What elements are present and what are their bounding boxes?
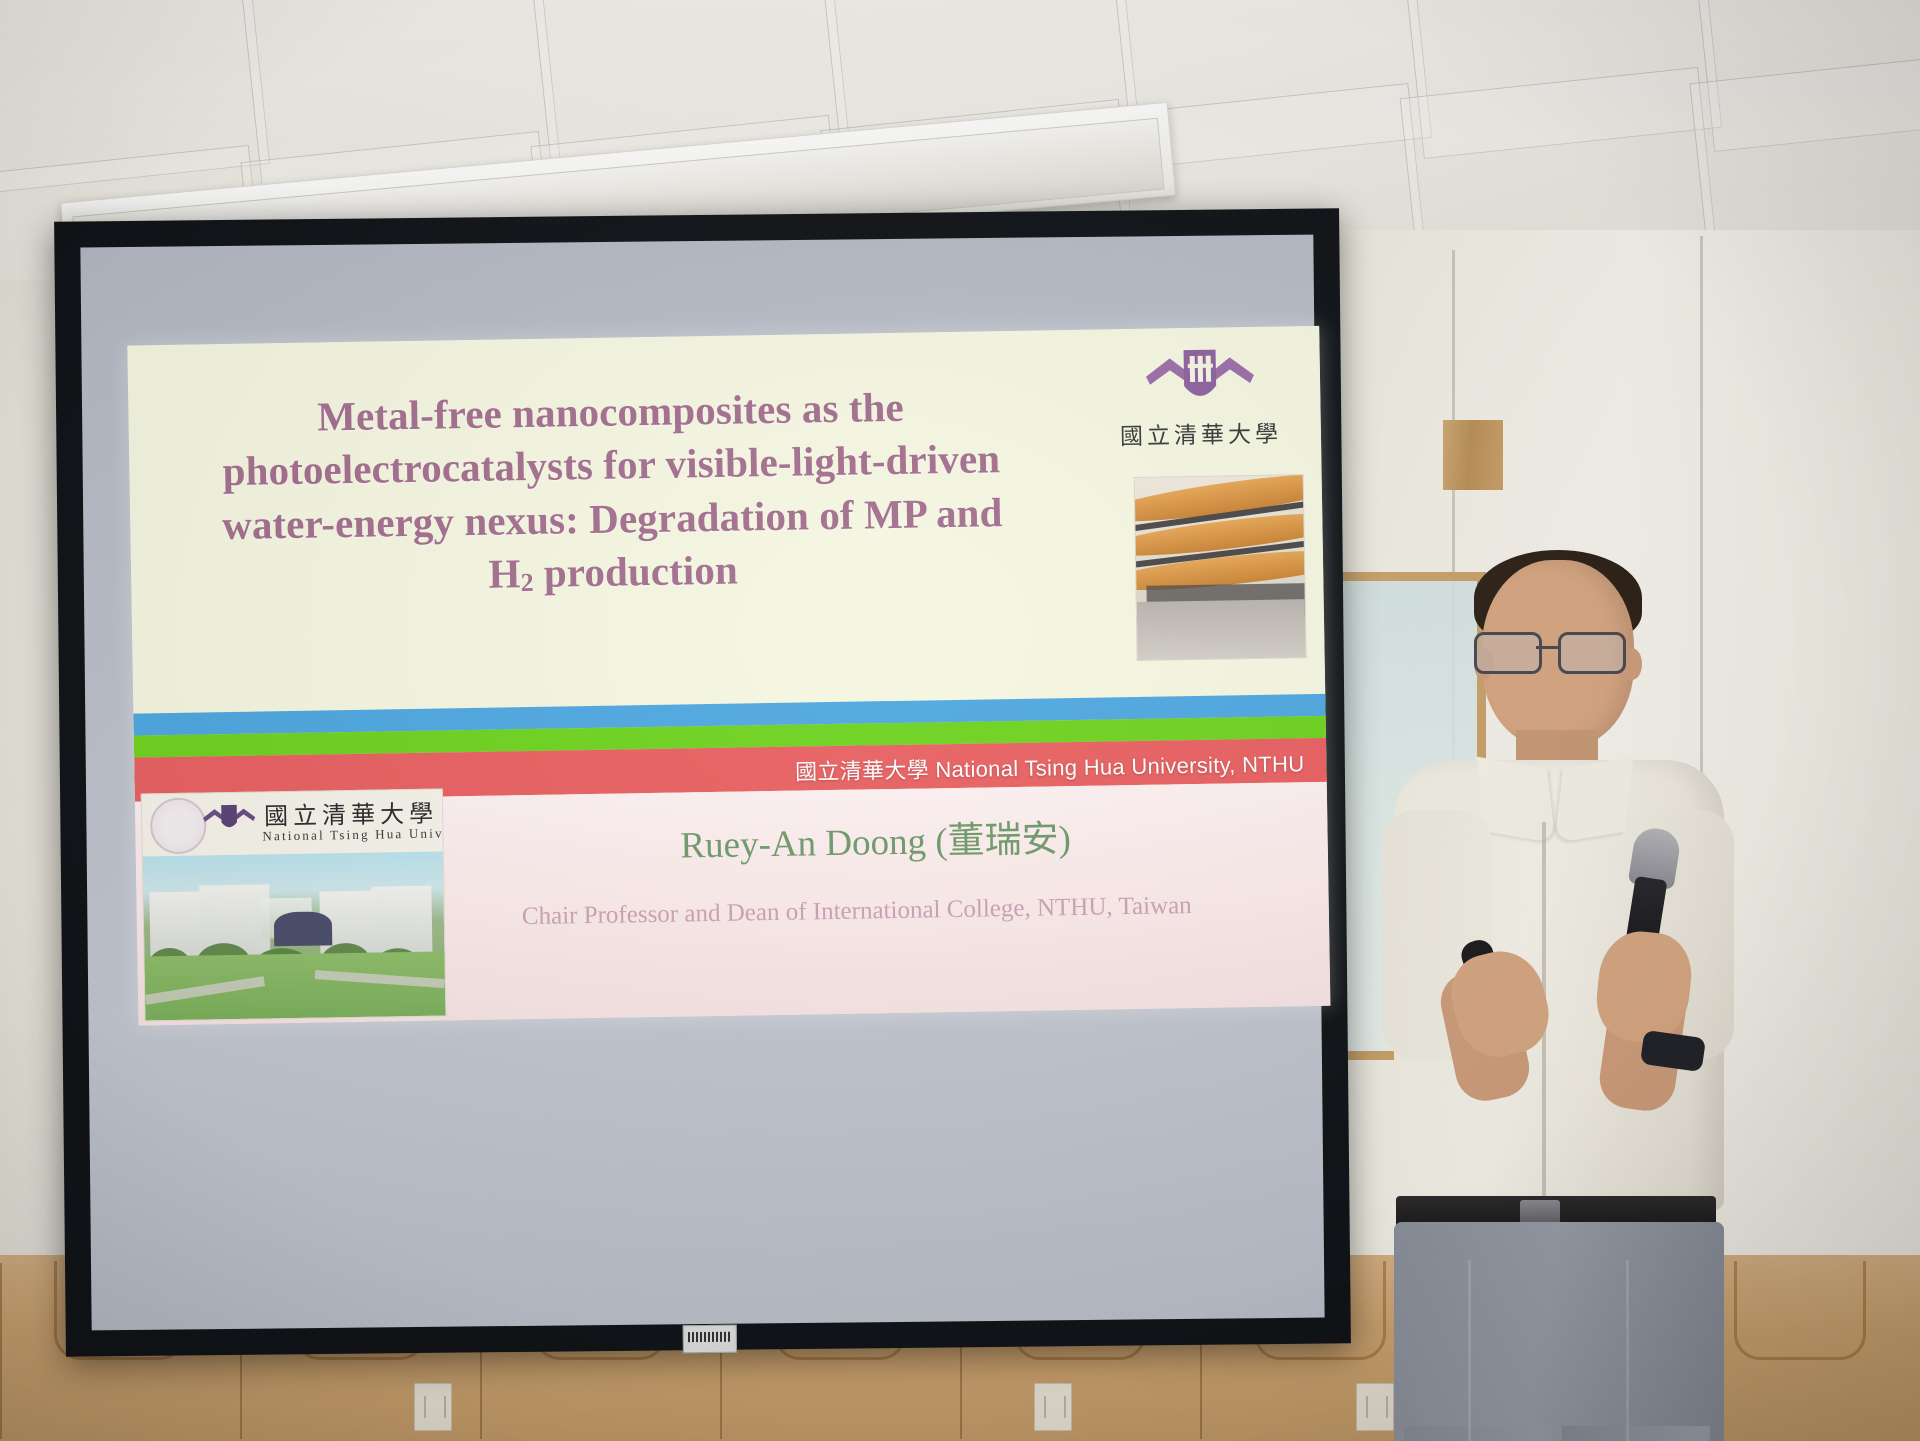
title-h: H bbox=[488, 550, 521, 597]
slide-speaker-role: Chair Professor and Dean of Internationa… bbox=[387, 890, 1327, 934]
title-production: production bbox=[533, 546, 738, 595]
wood-trim-post bbox=[1443, 420, 1503, 490]
banner-text: 國立清華大學 National Tsing Hua University, NT… bbox=[795, 746, 1305, 786]
presenter-leg-right bbox=[1562, 1426, 1710, 1441]
slide-title: Metal-free nanocomposites as the photoel… bbox=[170, 378, 1053, 606]
nthu-emblem-small-icon bbox=[200, 803, 259, 836]
trouser-crease bbox=[1626, 1260, 1629, 1441]
presenter-collar-right bbox=[1555, 757, 1634, 844]
power-outlet bbox=[414, 1383, 452, 1431]
eyeglasses-icon bbox=[1474, 632, 1642, 668]
title-h-subscript: 2 bbox=[520, 568, 534, 597]
power-outlet bbox=[1034, 1383, 1072, 1431]
presenter-leg-left bbox=[1404, 1426, 1552, 1441]
nthu-logo: 國立清華大學 bbox=[1115, 344, 1285, 467]
campus-aerial-photo bbox=[143, 851, 446, 1020]
screen-surface: Metal-free nanocomposites as the photoel… bbox=[80, 235, 1324, 1331]
presenter bbox=[1370, 560, 1800, 1441]
university-seal-icon bbox=[150, 797, 207, 854]
projection-screen: Metal-free nanocomposites as the photoel… bbox=[54, 208, 1351, 1356]
slide-speaker-name: Ruey-An Doong (董瑞安) bbox=[435, 804, 1316, 873]
building-photo bbox=[1134, 474, 1307, 661]
screen-pull-tab bbox=[682, 1325, 736, 1354]
nthu-logo-chinese: 國立清華大學 bbox=[1117, 414, 1286, 451]
presenter-trousers bbox=[1394, 1222, 1724, 1441]
presentation-slide: Metal-free nanocomposites as the photoel… bbox=[127, 326, 1330, 1026]
nthu-emblem-icon bbox=[1139, 345, 1260, 413]
screenshot-root: Metal-free nanocomposites as the photoel… bbox=[0, 0, 1920, 1441]
campus-card-english: National Tsing Hua University bbox=[262, 825, 446, 845]
slide-footer-area: 國立清華大學 National Tsing Hua University bbox=[135, 782, 1331, 1026]
campus-card-header: 國立清華大學 National Tsing Hua University bbox=[142, 789, 443, 856]
trouser-crease bbox=[1468, 1260, 1471, 1441]
slide-title-area: Metal-free nanocomposites as the photoel… bbox=[127, 326, 1325, 714]
